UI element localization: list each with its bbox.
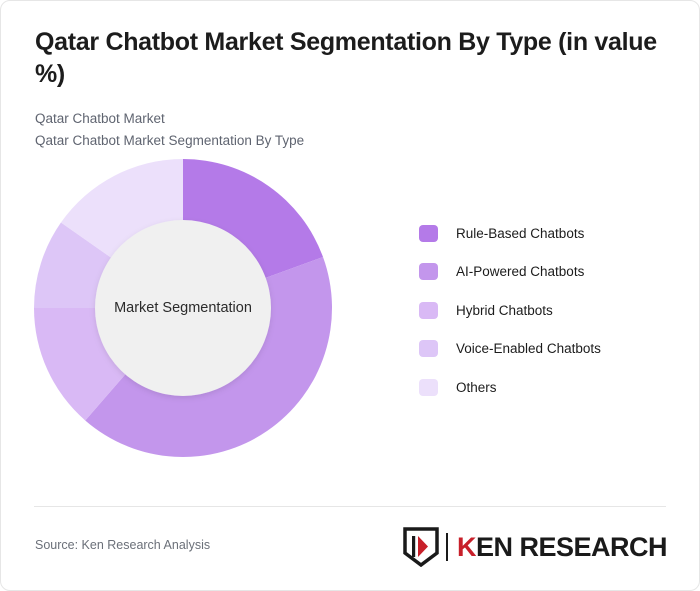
brand-text: K EN RESEARCH <box>457 534 667 561</box>
chart-card: Qatar Chatbot Market Segmentation By Typ… <box>0 0 700 591</box>
legend-label: Rule-Based Chatbots <box>456 226 584 241</box>
legend-item[interactable]: Others <box>419 368 674 407</box>
footer-divider <box>34 506 666 507</box>
legend-label: Voice-Enabled Chatbots <box>456 341 601 356</box>
brand-logo: K EN RESEARCH <box>403 527 667 567</box>
legend-swatch <box>419 263 438 280</box>
legend-item[interactable]: Voice-Enabled Chatbots <box>419 330 674 369</box>
brand-divider <box>446 533 448 561</box>
ken-research-shield-icon <box>403 527 439 567</box>
legend-swatch <box>419 302 438 319</box>
legend-item[interactable]: AI-Powered Chatbots <box>419 252 674 291</box>
legend-label: Hybrid Chatbots <box>456 303 553 318</box>
subtitle-block: Qatar Chatbot Market Qatar Chatbot Marke… <box>35 108 665 152</box>
legend-swatch <box>419 379 438 396</box>
brand-text-rest: EN RESEARCH <box>476 534 667 561</box>
legend-swatch <box>419 340 438 357</box>
legend-item[interactable]: Hybrid Chatbots <box>419 291 674 330</box>
legend-label: AI-Powered Chatbots <box>456 264 584 279</box>
donut-svg <box>33 158 333 458</box>
chart-body: Market Segmentation Rule-Based ChatbotsA… <box>1 152 699 497</box>
donut-chart: Market Segmentation <box>33 158 333 458</box>
chart-subtitle-segmentation: Qatar Chatbot Market Segmentation By Typ… <box>35 130 665 152</box>
chart-legend: Rule-Based ChatbotsAI-Powered ChatbotsHy… <box>419 214 674 407</box>
source-text: Source: Ken Research Analysis <box>35 538 210 552</box>
chart-subtitle-market: Qatar Chatbot Market <box>35 108 665 130</box>
legend-swatch <box>419 225 438 242</box>
page-title: Qatar Chatbot Market Segmentation By Typ… <box>35 27 665 90</box>
chart-footer: Source: Ken Research Analysis K EN RESEA… <box>1 506 699 590</box>
chart-header: Qatar Chatbot Market Segmentation By Typ… <box>1 1 699 152</box>
donut-hole <box>95 220 271 396</box>
legend-label: Others <box>456 380 497 395</box>
brand-text-k: K <box>457 534 476 561</box>
legend-item[interactable]: Rule-Based Chatbots <box>419 214 674 253</box>
